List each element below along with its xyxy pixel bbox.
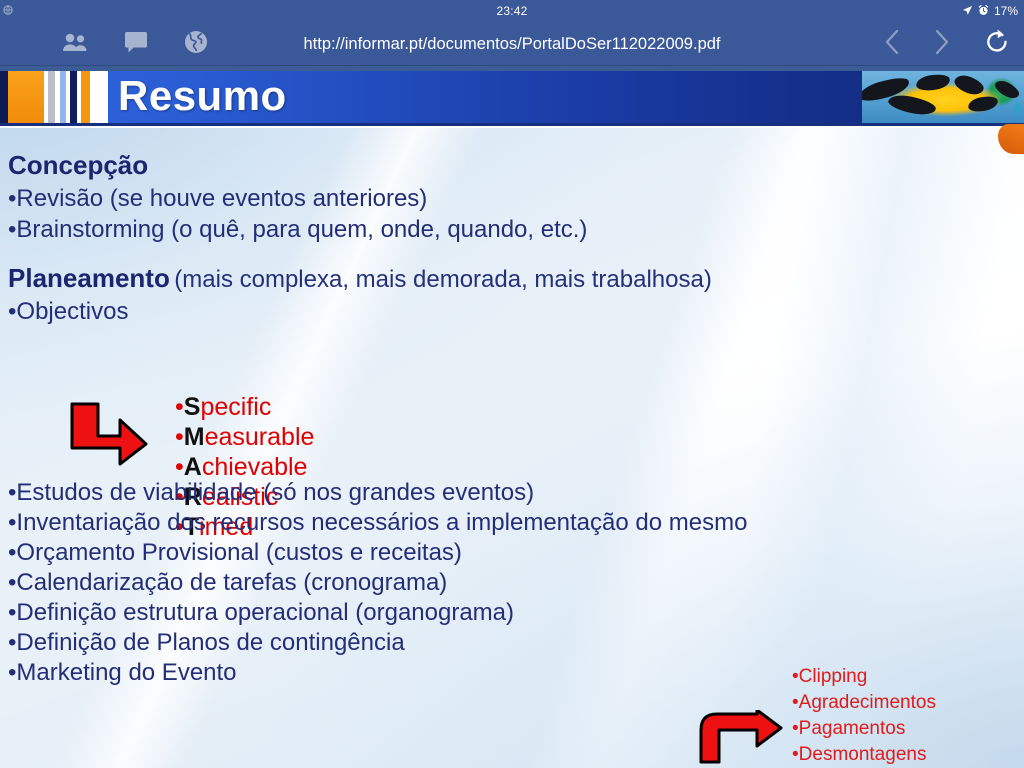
bullet-planos-contingencia: •Definição de Planos de contingência <box>8 629 405 657</box>
smart-initial: A <box>184 453 202 481</box>
forward-chevron-icon[interactable] <box>934 29 950 60</box>
smart-rest: easurable <box>205 423 315 451</box>
smart-rest: chievable <box>202 453 308 481</box>
header-stripe-decoration <box>0 71 108 123</box>
smart-rest: pecific <box>200 393 271 421</box>
red-item: •Clipping <box>792 664 1024 690</box>
battery-percent-label: 17% <box>994 4 1018 18</box>
smart-initial: S <box>184 393 201 421</box>
slide-header: Resumo <box>0 66 1024 126</box>
heading-planeamento: Planeamento <box>8 263 170 293</box>
back-chevron-icon[interactable] <box>884 29 900 60</box>
red-arrow-smart-icon <box>68 400 150 468</box>
alarm-clock-icon <box>978 5 989 18</box>
bullet-estudos: •Estudos de viabilidade (só nos grandes … <box>8 479 534 507</box>
pdf-slide-page: Resumo Concepção •Revisão (se houve even… <box>0 66 1024 768</box>
smart-item: •Specific <box>175 392 314 422</box>
red-item: •Agradecimentos <box>792 690 1024 716</box>
slide-body: Concepção •Revisão (se houve eventos ant… <box>0 128 1024 768</box>
red-checklist: •Clipping •Agradecimentos •Pagamentos •D… <box>792 664 1024 768</box>
bullet-inventariacao: •Inventariação dos recursos necessários … <box>8 509 747 537</box>
smart-initial: M <box>184 423 205 451</box>
address-bar-url[interactable]: http://informar.pt/documentos/PortalDoSe… <box>0 22 1024 66</box>
smart-item: •Measurable <box>175 422 314 452</box>
slide-title: Resumo <box>118 71 287 123</box>
heading-planeamento-row: Planeamento (mais complexa, mais demorad… <box>8 263 712 294</box>
bullet-calendarizacao: •Calendarização de tarefas (cronograma) <box>8 569 447 597</box>
bullet-marketing: •Marketing do Evento <box>8 659 237 687</box>
header-photo <box>862 71 1024 123</box>
red-item: •Pagamentos <box>792 716 1024 742</box>
heading-planeamento-note: (mais complexa, mais demorada, mais trab… <box>174 266 712 293</box>
bullet-definicao-estrutura: •Definição estrutura operacional (organo… <box>8 599 514 627</box>
browser-nav-group <box>884 22 1010 66</box>
status-bar-right: 17% <box>962 0 1018 22</box>
heading-concepcao: Concepção <box>8 150 148 181</box>
location-arrow-icon <box>962 5 973 18</box>
smart-item: •Achievable <box>175 452 314 482</box>
bullet-objectivos: •Objectivos <box>8 298 128 326</box>
bullet-revisao: •Revisão (se houve eventos anteriores) <box>8 185 427 213</box>
bullet-orcamento: •Orçamento Provisional (custos e receita… <box>8 539 462 567</box>
status-clock: 23:42 <box>0 0 1024 22</box>
red-arrow-evaluation-icon <box>697 710 785 766</box>
browser-toolbar: http://informar.pt/documentos/PortalDoSe… <box>0 22 1024 66</box>
reload-icon[interactable] <box>984 28 1010 61</box>
red-item: •Desmontagens <box>792 742 1024 768</box>
bullet-brainstorming: •Brainstorming (o quê, para quem, onde, … <box>8 216 587 244</box>
status-bar: 23:42 17% <box>0 0 1024 22</box>
